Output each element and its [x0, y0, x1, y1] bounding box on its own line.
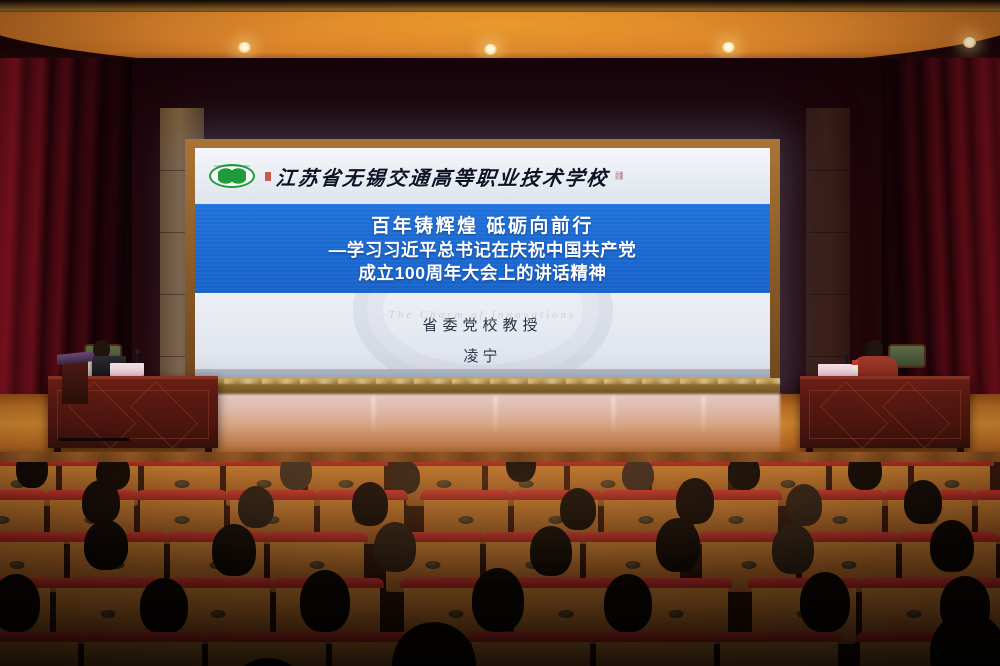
- audience-member: [604, 574, 652, 632]
- slide-title-band: 百年铸辉煌 砥砺向前行 —学习习近平总书记在庆祝中国共产党 成立100周年大会上…: [195, 204, 770, 293]
- downlight-icon-2: [484, 44, 497, 55]
- stage-floor-reflection: [186, 394, 780, 456]
- audience-member: [374, 522, 416, 572]
- seat[interactable]: [0, 638, 78, 666]
- projection-screen-frame: JIANGSU WUXI JIAOTONG 江苏省无锡交通高等职业技术学校 无锡…: [185, 139, 780, 391]
- audience-member: [238, 486, 274, 528]
- water-bottle-right: [852, 360, 858, 377]
- slide-title-line-2: —学习习近平总书记在庆祝中国共产党: [329, 239, 637, 262]
- school-logo-icon: JIANGSU WUXI JIAOTONG: [209, 164, 255, 188]
- downlight-icon-4: [963, 37, 976, 48]
- screen-base-bar: [186, 378, 780, 395]
- audience-member: [930, 520, 974, 572]
- slide-title-line-3: 成立100周年大会上的讲话精神: [358, 262, 606, 285]
- floor-glint-3: [612, 396, 615, 436]
- slide-body: The Charm of Innovations 省委党校教授 凌宁: [195, 293, 770, 379]
- audience-member: [622, 462, 654, 492]
- audience-member: [352, 482, 388, 526]
- floor-glint-2: [494, 396, 497, 436]
- slide-watermark-icon: [353, 293, 613, 379]
- audience-member: [904, 480, 942, 524]
- wall-panel-right: [806, 108, 850, 408]
- seat[interactable]: [84, 638, 202, 666]
- presider-right-hair: [861, 344, 870, 351]
- seat[interactable]: [472, 638, 590, 666]
- school-name-calligraphy: 江苏省无锡交通高等职业技术学校: [274, 162, 610, 191]
- audience-member: [676, 478, 714, 524]
- audience-member: [728, 462, 760, 490]
- projection-screen: JIANGSU WUXI JIAOTONG 江苏省无锡交通高等职业技术学校 无锡…: [195, 148, 770, 379]
- slide-title-line-1: 百年铸辉煌 砥砺向前行: [371, 214, 594, 239]
- audience-member: [800, 572, 850, 632]
- floor-glint-4: [702, 396, 705, 436]
- seat[interactable]: [596, 638, 714, 666]
- seat[interactable]: [720, 638, 838, 666]
- audience-member: [82, 480, 120, 524]
- audience-member: [472, 568, 524, 632]
- audience-member: [140, 578, 188, 634]
- presenter-name: 凌宁: [463, 345, 501, 366]
- downlight-icon-1: [238, 42, 251, 53]
- downlight-icon-3: [722, 42, 735, 53]
- audience-member: [772, 524, 814, 574]
- audience-seating: [0, 462, 1000, 666]
- slide-header: JIANGSU WUXI JIAOTONG 江苏省无锡交通高等职业技术学校 无锡…: [195, 148, 770, 204]
- audience-member: [300, 570, 350, 632]
- floor-glint-1: [372, 396, 375, 436]
- audience-member: [84, 520, 128, 570]
- audience-member: [656, 518, 700, 572]
- audience-member: [280, 462, 312, 490]
- audience-member: [848, 462, 882, 490]
- auditorium-scene: JIANGSU WUXI JIAOTONG 江苏省无锡交通高等职业技术学校 无锡…: [0, 0, 1000, 666]
- audience-member: [212, 524, 256, 576]
- school-seal-right-text: 无锡 交通: [615, 172, 623, 181]
- nameplate-left: [110, 363, 144, 376]
- presider-desk-right: [800, 376, 970, 448]
- presenter-role: 省委党校教授: [422, 314, 542, 335]
- audience-member: [530, 526, 572, 576]
- red-seal-icon: [265, 172, 271, 181]
- lectern-left: [62, 360, 88, 404]
- audience-member: [786, 484, 822, 526]
- floor-cable: [58, 438, 130, 441]
- audience-member: [560, 488, 596, 530]
